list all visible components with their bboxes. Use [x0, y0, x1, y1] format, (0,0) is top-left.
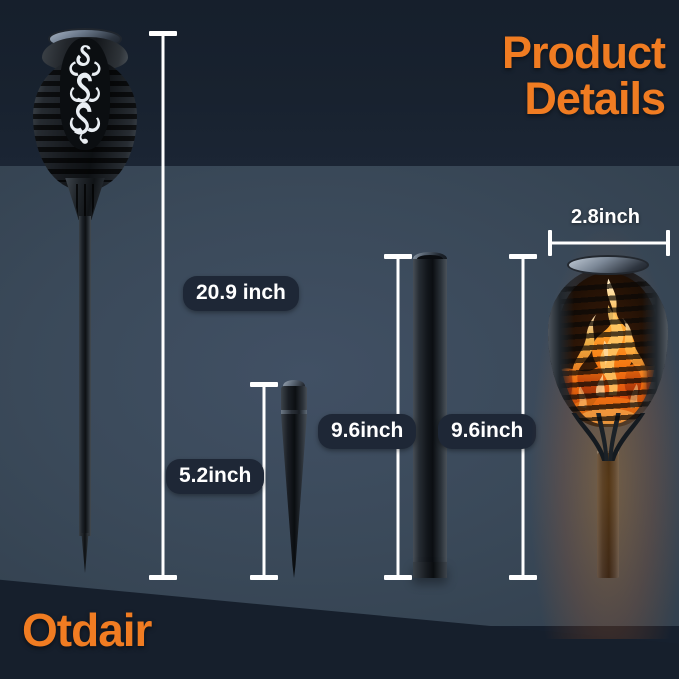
measurement-label-stake-length: 5.2inch: [166, 459, 264, 494]
measurement-label-torch-height: 9.6inch: [438, 414, 536, 449]
lit-solar-panel: [567, 255, 649, 275]
torch-pole: [79, 216, 91, 536]
stake-head: [281, 386, 307, 412]
lit-torch-legs: [570, 413, 647, 461]
page-title: Product Details: [502, 30, 665, 122]
torch-head: [33, 28, 137, 223]
measurement-label-total-height: 20.9 inch: [183, 276, 299, 311]
torch-ground-spike: [81, 533, 88, 573]
assembled-torch: [33, 28, 137, 573]
lit-torch-head: [548, 255, 668, 580]
tube-foot: [413, 562, 447, 578]
stake-spike: [281, 414, 307, 578]
filigree-pattern-icon: [60, 38, 110, 150]
page-title-line-1: Product: [502, 30, 665, 76]
measurement-label-tube-length: 9.6inch: [318, 414, 416, 449]
extension-tube: [413, 252, 447, 578]
product-details-image: Product Details Otdair: [0, 0, 679, 679]
lit-torch-stem: [597, 453, 619, 578]
dimension-line-total-height: [148, 33, 178, 578]
lit-torch-left-shade: [548, 277, 574, 427]
measurement-label-torch-width: 2.8inch: [571, 206, 640, 229]
lit-torch-shell: [548, 267, 668, 427]
ground-stake: [281, 380, 307, 578]
torch-neck-slits: [70, 184, 99, 218]
dimension-line-torch-width: [549, 230, 669, 256]
torch-filigree-window: [60, 38, 110, 150]
page-title-line-2: Details: [502, 76, 665, 122]
lit-torch-right-shade: [642, 277, 668, 427]
brand-logo: Otdair: [22, 603, 151, 657]
